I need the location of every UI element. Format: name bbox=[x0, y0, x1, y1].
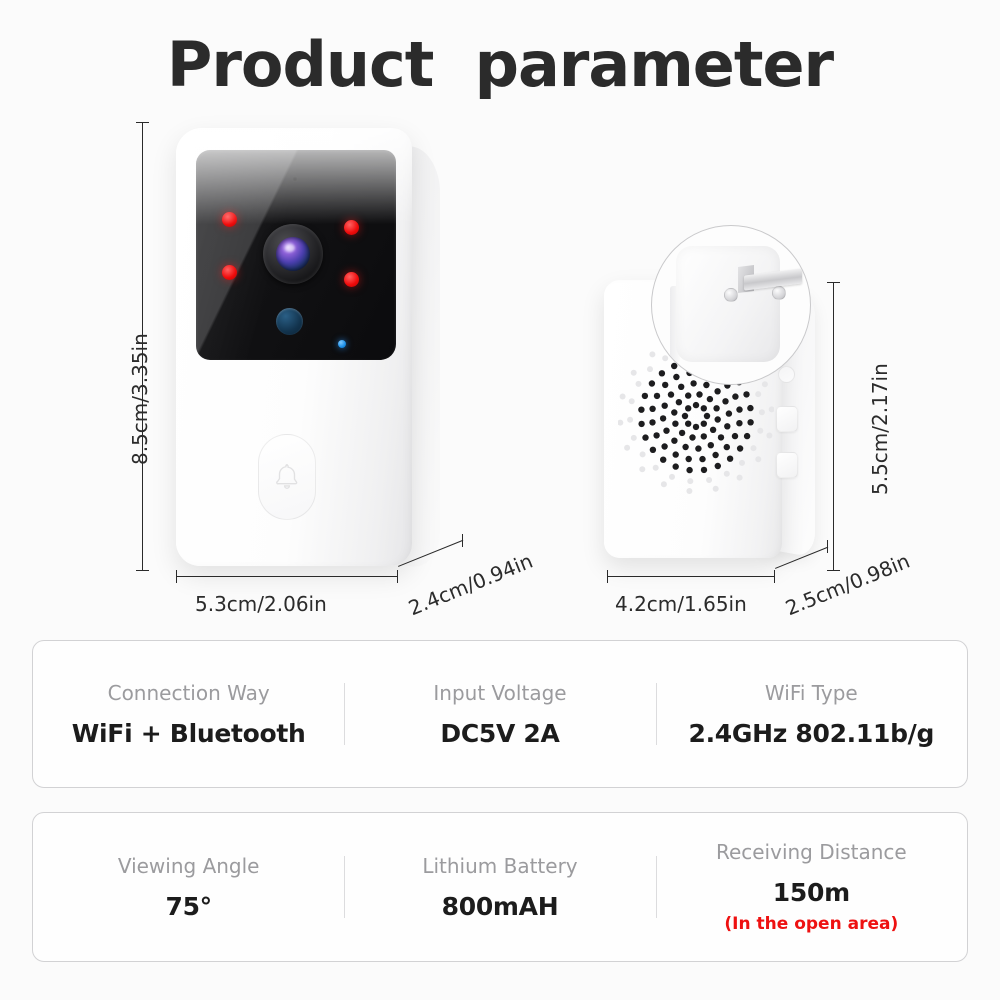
doorbell-press-button[interactable] bbox=[258, 434, 316, 520]
chime-width-line bbox=[607, 576, 775, 577]
spec-cell-input-voltage: Input Voltage DC5V 2A bbox=[344, 641, 655, 787]
spec-note-open-area: (In the open area) bbox=[724, 914, 898, 934]
spec-value: 800mAH bbox=[442, 892, 559, 921]
ir-led-icon bbox=[344, 272, 359, 287]
spec-label: Receiving Distance bbox=[716, 840, 907, 864]
spec-cell-lithium-battery: Lithium Battery 800mAH bbox=[344, 813, 655, 961]
doorbell-body bbox=[176, 128, 412, 566]
spec-cell-receiving-distance: Receiving Distance 150m (In the open are… bbox=[656, 813, 967, 961]
lens-iris bbox=[276, 237, 310, 271]
dimension-cap bbox=[607, 570, 608, 583]
doorbell-height-label: 8.5cm/3.35in bbox=[128, 333, 152, 465]
spec-label: Lithium Battery bbox=[422, 854, 577, 878]
dimension-cap bbox=[827, 282, 840, 283]
dimension-cap bbox=[176, 570, 177, 583]
spec-cell-wifi-type: WiFi Type 2.4GHz 802.11b/g bbox=[656, 641, 967, 787]
doorbell-width-label: 5.3cm/2.06in bbox=[195, 592, 327, 616]
microphone-icon bbox=[292, 176, 298, 182]
chime-hanger-hole bbox=[778, 366, 795, 383]
plug-back-face bbox=[676, 246, 780, 362]
spec-label: Input Voltage bbox=[433, 681, 566, 705]
ir-led-icon bbox=[222, 212, 237, 227]
spec-panel-row-2: Viewing Angle 75° Lithium Battery 800mAH… bbox=[32, 812, 968, 962]
dimension-cap bbox=[774, 570, 775, 583]
plug-detail-callout bbox=[651, 225, 811, 385]
chime-height-label: 5.5cm/2.17in bbox=[868, 363, 892, 495]
doorbell-product-image bbox=[168, 128, 468, 578]
chime-width-label: 4.2cm/1.65in bbox=[615, 592, 747, 616]
spec-cell-viewing-angle: Viewing Angle 75° bbox=[33, 813, 344, 961]
dimension-cap bbox=[827, 540, 828, 553]
spec-cell-connection-way: Connection Way WiFi + Bluetooth bbox=[33, 641, 344, 787]
spec-panel-row-1: Connection Way WiFi + Bluetooth Input Vo… bbox=[32, 640, 968, 788]
screw-icon bbox=[724, 288, 738, 302]
dimension-cap bbox=[136, 570, 149, 571]
bell-icon bbox=[272, 462, 302, 492]
product-image-area: 8.5cm/3.35in 5.3cm/2.06in 2.4cm/0.94in 5… bbox=[0, 110, 1000, 630]
chime-melody-button[interactable] bbox=[776, 452, 798, 478]
camera-lens-icon bbox=[263, 224, 323, 284]
spec-value: 2.4GHz 802.11b/g bbox=[689, 719, 935, 748]
chime-height-line bbox=[833, 282, 834, 570]
spec-value: WiFi + Bluetooth bbox=[72, 719, 306, 748]
dimension-cap bbox=[462, 534, 463, 547]
doorbell-width-line bbox=[176, 576, 398, 577]
dimension-cap bbox=[397, 570, 398, 583]
screw-icon bbox=[772, 286, 786, 300]
ir-led-icon bbox=[344, 220, 359, 235]
page-title: Product parameter bbox=[0, 28, 1000, 101]
spec-label: WiFi Type bbox=[765, 681, 858, 705]
doorbell-front-panel bbox=[196, 150, 396, 360]
spec-value: 150m bbox=[773, 878, 850, 907]
status-led-icon bbox=[338, 340, 346, 348]
spec-value: DC5V 2A bbox=[440, 719, 559, 748]
ir-led-icon bbox=[222, 265, 237, 280]
pir-sensor-icon bbox=[276, 308, 303, 335]
chime-volume-button[interactable] bbox=[776, 406, 798, 432]
spec-value: 75° bbox=[165, 892, 211, 921]
spec-label: Connection Way bbox=[108, 681, 270, 705]
dimension-cap bbox=[136, 122, 149, 123]
spec-label: Viewing Angle bbox=[118, 854, 260, 878]
dimension-cap bbox=[827, 570, 840, 571]
